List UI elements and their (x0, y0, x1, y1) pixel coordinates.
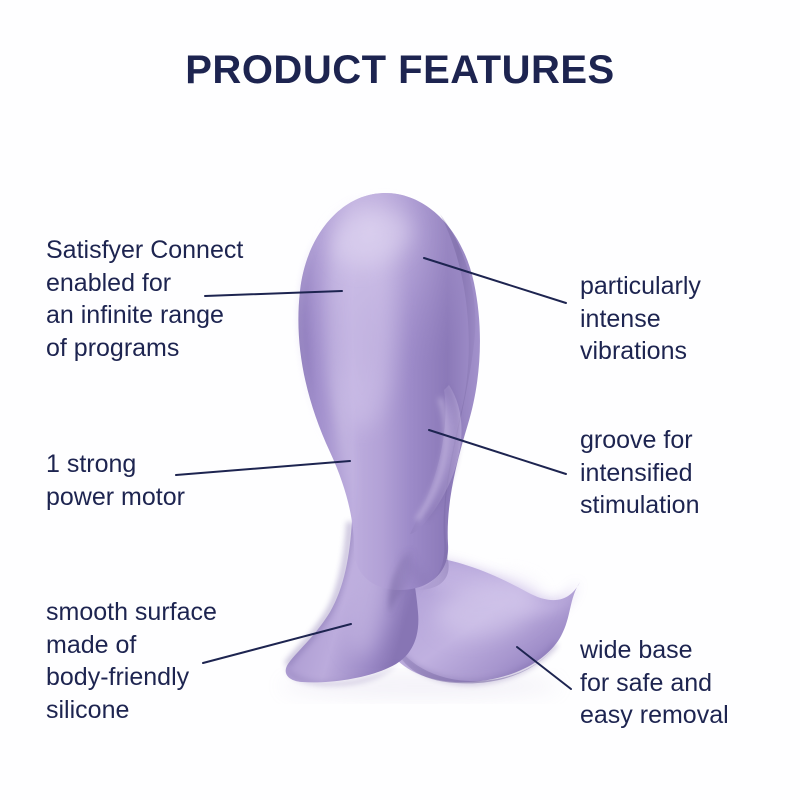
callout-label-widebase: wide base for safe and easy removal (580, 634, 800, 732)
product-contact-shadow (280, 676, 560, 696)
callout-label-motor: 1 strong power motor (46, 448, 306, 513)
callout-label-vibrations: particularly intense vibrations (580, 270, 795, 368)
callout-label-groove: groove for intensified stimulation (580, 424, 795, 522)
callout-label-connect: Satisfyer Connect enabled for an infinit… (46, 234, 326, 364)
product-features-infographic: PRODUCT FEATURES (0, 0, 800, 800)
callout-label-silicone: smooth surface made of body-friendly sil… (46, 596, 316, 726)
